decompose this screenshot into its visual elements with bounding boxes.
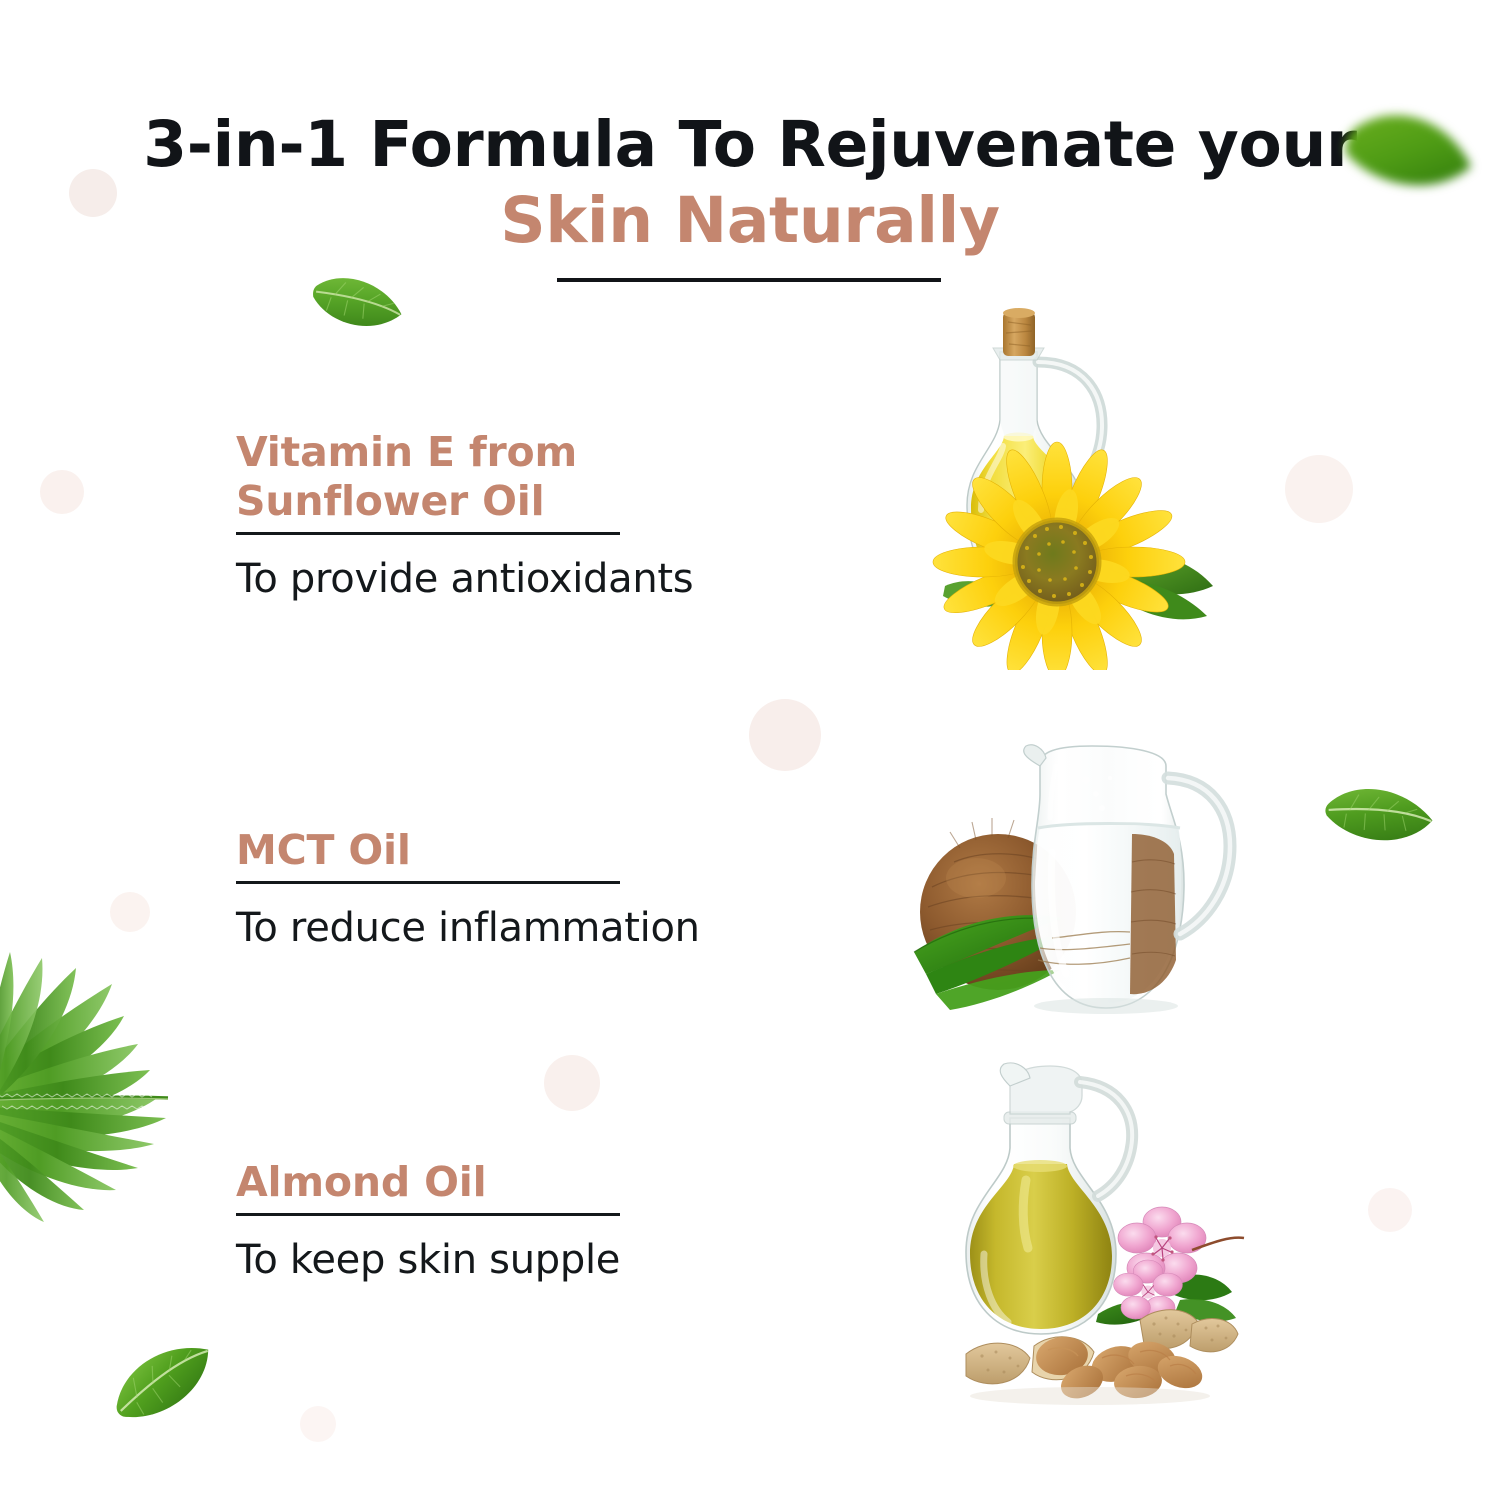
mct-coconut-oil-pitcher-image [880, 722, 1280, 1042]
ingredient-title-line-2: Sunflower Oil [236, 477, 545, 525]
pink-dot-right-low [1368, 1188, 1412, 1232]
ingredient-title-mct-oil: MCT Oil [236, 826, 836, 875]
palm-frond-left-edge-icon [0, 928, 242, 1228]
ingredient-description-mct-oil: To reduce inflammation [236, 904, 836, 952]
ingredient-underline-rule [236, 532, 620, 535]
leaf-mid-right-icon [1318, 772, 1440, 868]
infographic-canvas: 3-in-1 Formula To Rejuvenate your Skin N… [0, 0, 1500, 1500]
ingredient-title-line-1: MCT Oil [236, 826, 411, 874]
ingredient-title-line-1: Almond Oil [236, 1158, 486, 1206]
ingredient-title-line-1: Vitamin E from [236, 428, 577, 476]
pink-dot-center [749, 699, 821, 771]
ingredient-title-almond-oil: Almond Oil [236, 1158, 836, 1207]
ingredient-title-vitamin-e: Vitamin E from Sunflower Oil [236, 428, 836, 526]
ingredient-underline-rule [236, 1213, 620, 1216]
sunflower-oil-bottle-image [905, 300, 1245, 670]
ingredient-block-almond-oil: Almond Oil To keep skin supple [236, 1158, 836, 1284]
ingredient-block-vitamin-e: Vitamin E from Sunflower Oil To provide … [236, 428, 836, 603]
ingredient-block-mct-oil: MCT Oil To reduce inflammation [236, 826, 836, 952]
page-title: 3-in-1 Formula To Rejuvenate your Skin N… [0, 108, 1500, 258]
ingredient-description-vitamin-e: To provide antioxidants [236, 555, 836, 603]
leaf-bottom-left-icon [104, 1332, 228, 1436]
page-title-line-1: 3-in-1 Formula To Rejuvenate your [0, 108, 1500, 182]
page-title-underline-rule [557, 278, 941, 282]
leaf-upper-left-icon [302, 262, 410, 350]
page-title-line-2: Skin Naturally [0, 184, 1500, 258]
pink-dot-center-low [544, 1055, 600, 1111]
almond-oil-bottle-image [930, 1052, 1270, 1412]
ingredient-description-almond-oil: To keep skin supple [236, 1236, 836, 1284]
ingredient-underline-rule [236, 881, 620, 884]
pink-dot-left-upper [40, 470, 84, 514]
pink-dot-bottom [300, 1406, 336, 1442]
pink-dot-left-mid [110, 892, 150, 932]
pink-dot-right [1285, 455, 1353, 523]
